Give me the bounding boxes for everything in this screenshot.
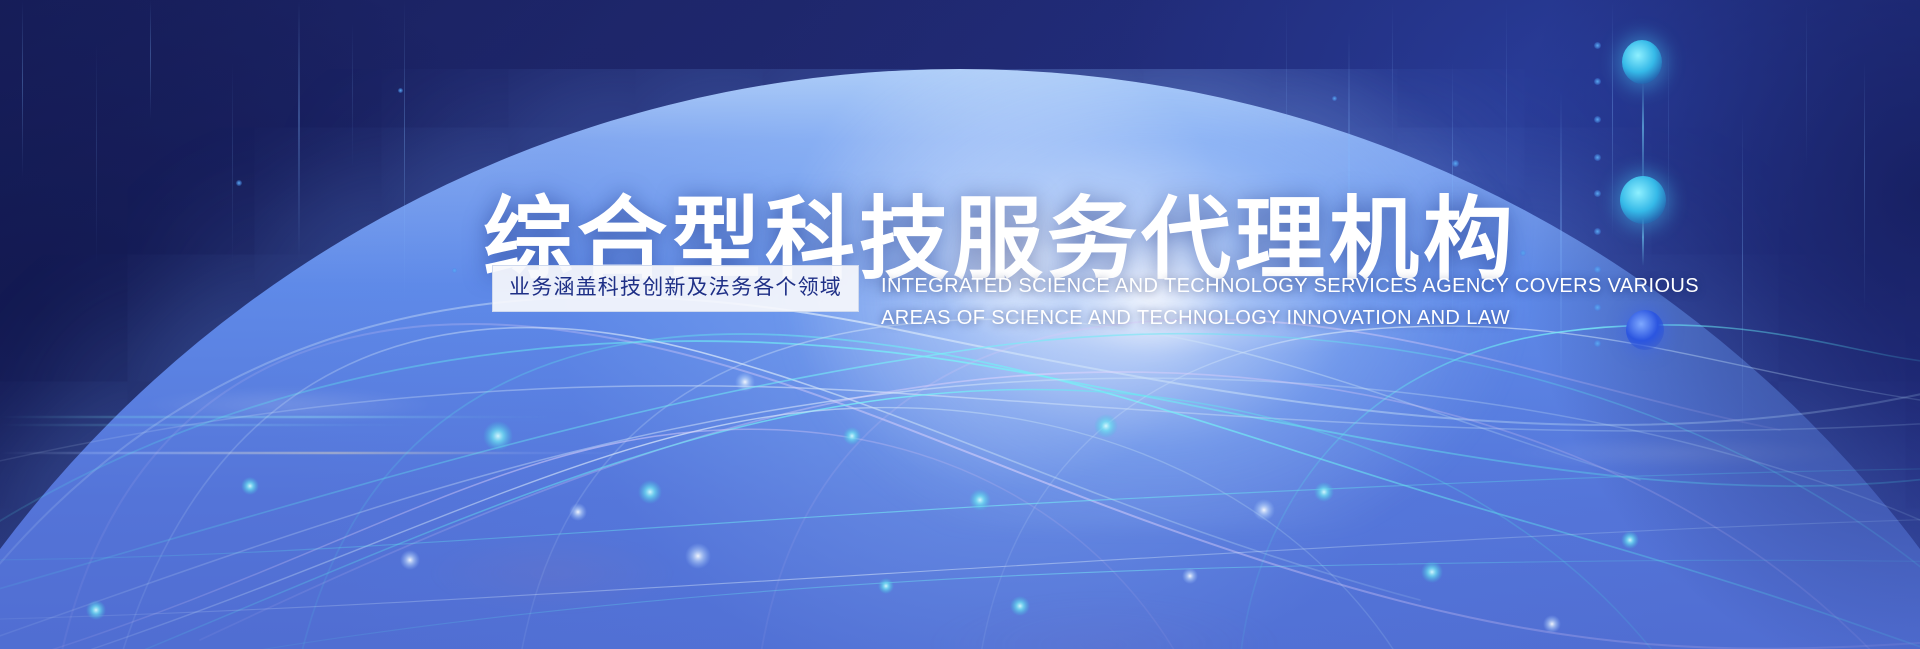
english-subtitle-line-2: AREAS OF SCIENCE AND TECHNOLOGY INNOVATI… — [881, 302, 1699, 334]
hero-banner: 综合型科技服务代理机构 业务涵盖科技创新及法务各个领域 INTEGRATED S… — [0, 0, 1920, 649]
subtitle-row: 业务涵盖科技创新及法务各个领域 INTEGRATED SCIENCE AND T… — [492, 265, 1699, 335]
english-subtitle-line-1: INTEGRATED SCIENCE AND TECHNOLOGY SERVIC… — [881, 270, 1699, 302]
banner-content: 综合型科技服务代理机构 业务涵盖科技创新及法务各个领域 INTEGRATED S… — [0, 0, 1920, 649]
english-subtitle: INTEGRATED SCIENCE AND TECHNOLOGY SERVIC… — [881, 265, 1699, 335]
tagline-box: 业务涵盖科技创新及法务各个领域 — [492, 265, 859, 312]
